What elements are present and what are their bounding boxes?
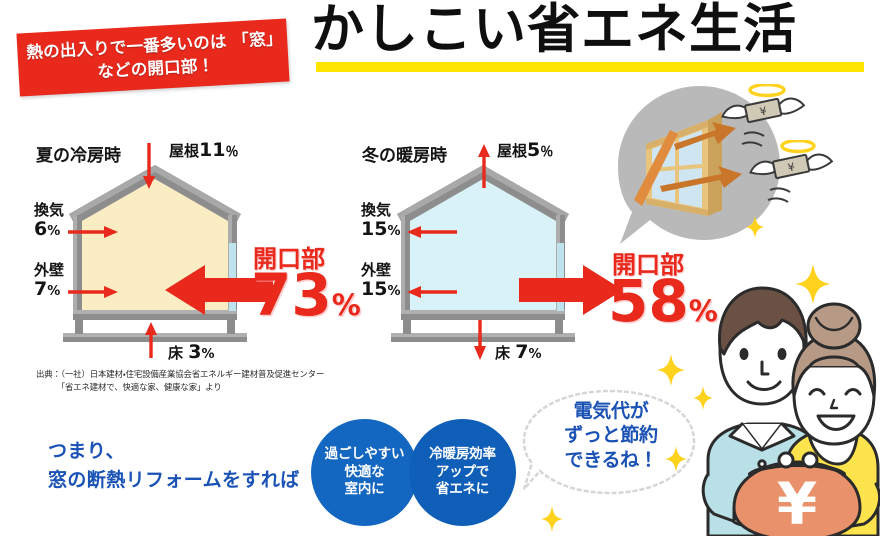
motion-lines-2	[766, 184, 798, 210]
summer-ventilation-label: 換気 6%	[34, 202, 64, 240]
headline-banner	[16, 19, 289, 97]
winter-floor-label: 床 7%	[495, 342, 542, 363]
flying-money-icon-1: ¥	[720, 84, 806, 132]
summer-floor-label: 床 3%	[168, 342, 215, 363]
summer-opening-value: 73%	[251, 266, 361, 324]
infographic-root: 熱の出入りで一番多いのは 「窓」などの開口部！ かしこい省エネ生活 夏の冷房時 …	[0, 0, 884, 536]
benefit-circle-comfort: 過ごしやすい 快適な 室内に	[311, 419, 418, 526]
winter-roof-arrow	[476, 142, 492, 190]
summer-wall-arrow	[68, 285, 120, 299]
sparkle-icon-6	[744, 214, 766, 240]
winter-wall-arrow	[405, 285, 457, 299]
sparkle-icon-2	[655, 352, 687, 388]
couple-illustration: ¥	[690, 278, 880, 536]
sparkle-icon-4	[663, 444, 689, 474]
winter-ventilation-arrow	[405, 225, 457, 239]
yen-symbol: ¥	[777, 470, 817, 536]
benefit-circle-efficiency: 冷暖房効率 アップで 省エネに	[409, 419, 516, 526]
summer-wall-label: 外壁 7%	[34, 262, 64, 300]
sparkle-icon-5	[538, 504, 566, 534]
title-underline	[316, 62, 864, 72]
summer-roof-arrow	[141, 143, 157, 191]
page-title: かしこい省エネ生活	[311, 2, 797, 58]
motion-lines-1	[740, 128, 772, 154]
winter-ventilation-label: 換気 15%	[361, 202, 400, 240]
winter-wall-label: 外壁 15%	[361, 262, 400, 300]
winter-floor-arrow	[472, 320, 488, 362]
source-citation: 出典：（一社）日本建材・住宅設備産業協会省エネルギー建材普及促進センター 「省エ…	[36, 368, 324, 393]
conclusion-text: つまり、 窓の断熱リフォームをすれば	[48, 437, 300, 494]
summer-floor-arrow	[143, 320, 159, 360]
summer-ventilation-arrow	[68, 225, 120, 239]
